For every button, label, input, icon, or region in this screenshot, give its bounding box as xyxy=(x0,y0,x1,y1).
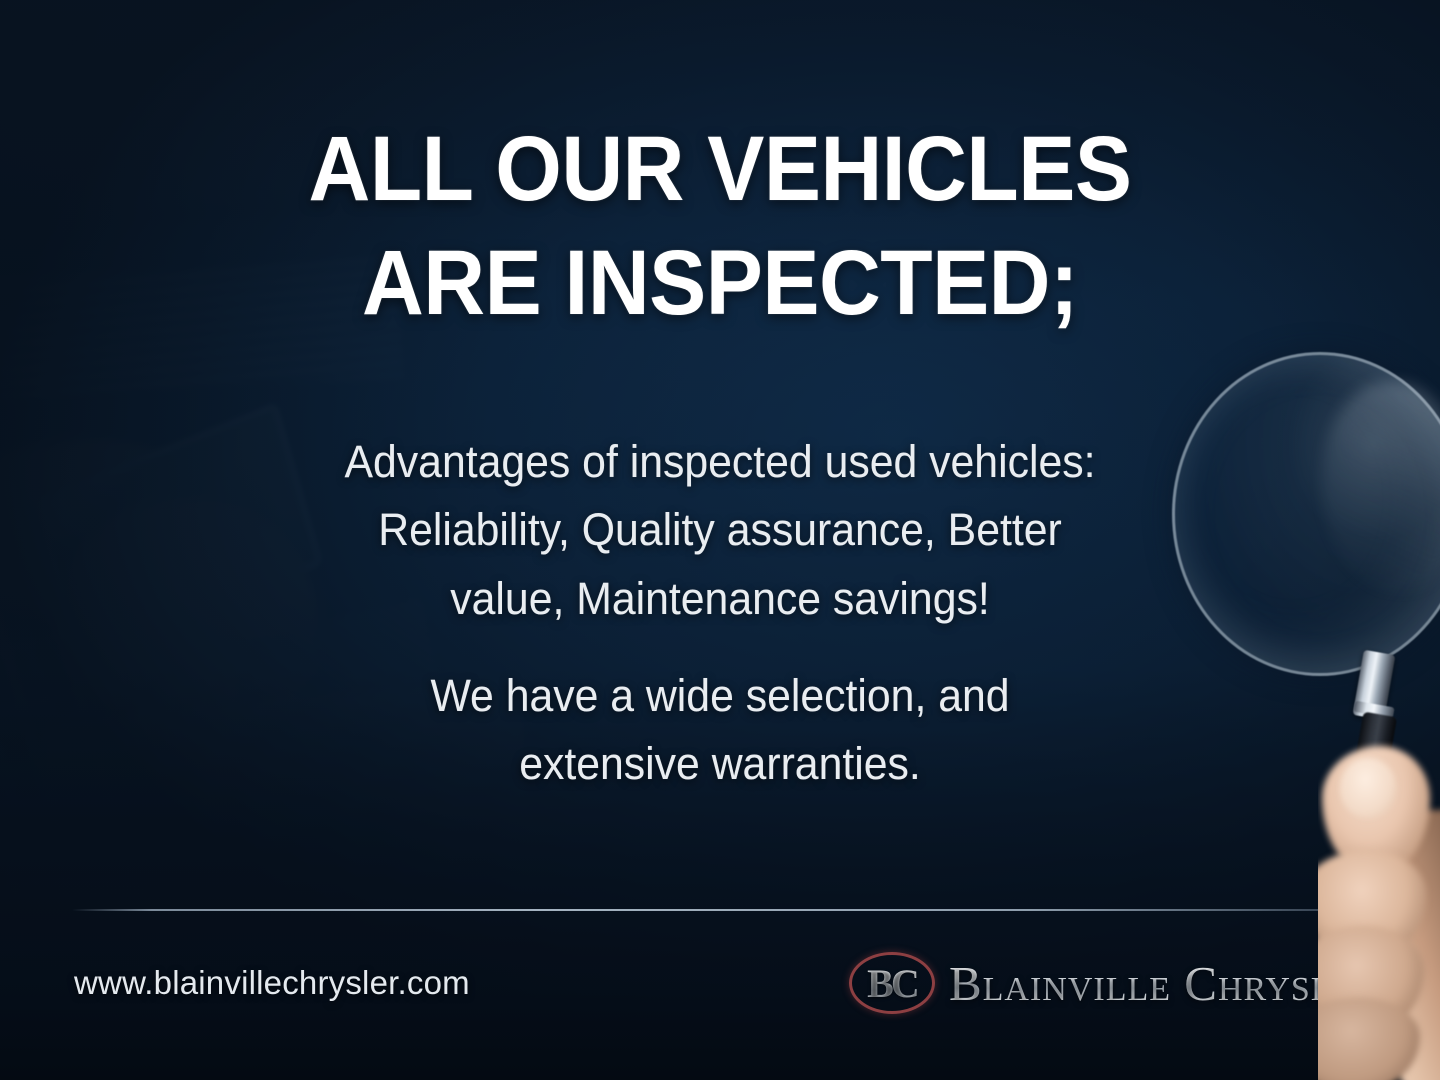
body-paragraph-advantages: Advantages of inspected used vehicles: R… xyxy=(293,428,1148,633)
website-url[interactable]: www.blainvillechrysler.com xyxy=(74,964,470,1002)
slide-content: ALL OUR VEHICLES ARE INSPECTED; Advantag… xyxy=(0,0,1440,1080)
bc-monogram-logo: BC xyxy=(849,952,935,1014)
page-title: ALL OUR VEHICLES ARE INSPECTED; xyxy=(50,112,1389,340)
thumbnail xyxy=(1340,758,1396,818)
brand-wordmark: Blainville Chrysler xyxy=(949,955,1378,1012)
brand-lockup: BC Blainville Chrysler xyxy=(849,952,1378,1014)
hand-holding-magnifier xyxy=(1318,740,1440,1080)
ring-finger xyxy=(1318,998,1420,1080)
promo-slide: ALL OUR VEHICLES ARE INSPECTED; Advantag… xyxy=(0,0,1440,1080)
monogram-letters: BC xyxy=(849,952,935,1014)
body-paragraph-selection: We have a wide selection, and extensive … xyxy=(293,662,1148,799)
